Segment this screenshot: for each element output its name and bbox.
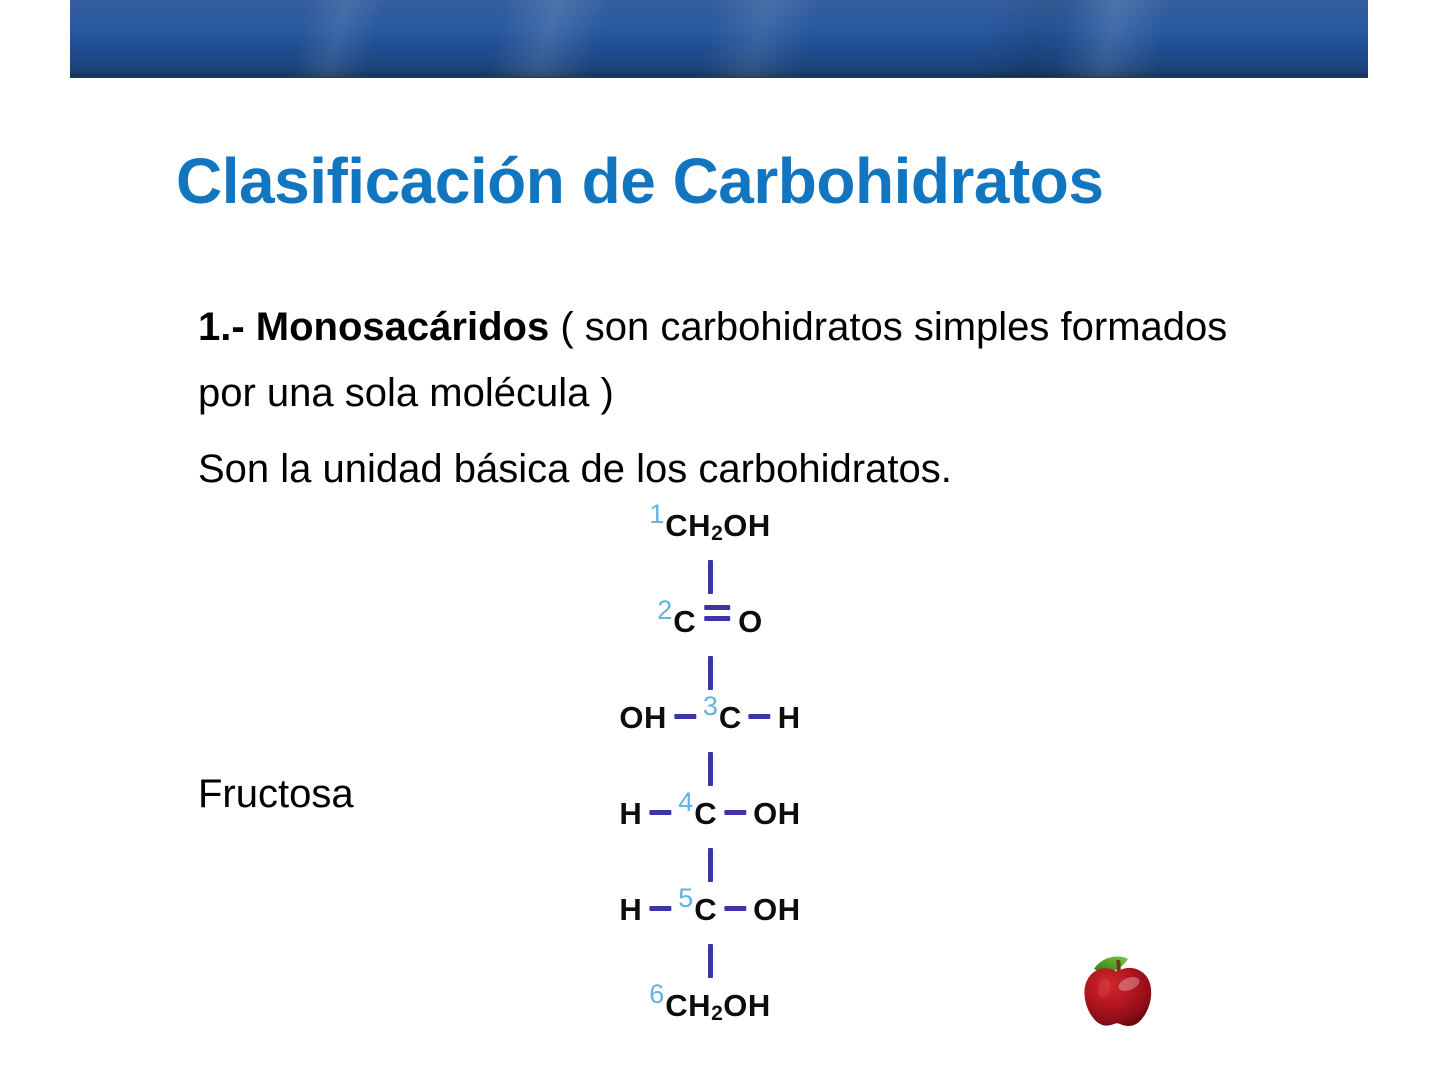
molecule-row-5-center: H 5 C OH xyxy=(619,892,800,928)
bond-left-3 xyxy=(674,714,696,719)
slide-body: 1.- Monosacáridos ( son carbohidratos si… xyxy=(198,294,1288,512)
locant-1: 1 xyxy=(649,499,664,530)
atom-group-ch2oh-top: CH2OH xyxy=(665,508,770,546)
slide-header-banner xyxy=(70,0,1368,77)
substituent-left-4: H xyxy=(619,796,642,832)
apple-body xyxy=(1084,968,1151,1026)
molecule-row-4: H 4 C OH xyxy=(560,796,890,840)
bond-left-5 xyxy=(649,906,671,911)
paragraph-unidad-basica: Son la unidad básica de los carbohidrato… xyxy=(198,436,1266,502)
molecule-row-3: OH 3 C H xyxy=(560,700,890,744)
bond-vertical-2-3 xyxy=(708,656,713,690)
substituent-right-3: H xyxy=(778,700,801,736)
substituent-right-5: OH xyxy=(753,892,801,928)
molecule-row-2-center: 2 C O xyxy=(657,604,763,640)
molecule-caption: Fructosa xyxy=(198,768,354,820)
bond-vertical-5-6 xyxy=(708,944,713,978)
fructose-structure-diagram: 1 CH2OH 2 C O OH 3 C H H 4 C xyxy=(560,508,890,1008)
bond-right-4 xyxy=(724,810,746,815)
banner-sheen-overlay xyxy=(70,0,1368,77)
paragraph-monosacaridos: 1.- Monosacáridos ( son carbohidratos si… xyxy=(198,294,1273,426)
molecule-row-4-center: H 4 C OH xyxy=(619,796,800,832)
bond-vertical-1-2 xyxy=(708,560,713,594)
molecule-row-6: 6 CH2OH xyxy=(560,988,890,1032)
molecule-row-1: 1 CH2OH xyxy=(560,508,890,552)
bond-right-3 xyxy=(749,714,771,719)
atom-carbon-3: C xyxy=(719,700,742,736)
page-title: Clasificación de Carbohidratos xyxy=(176,142,1296,220)
atom-oxygen-2: O xyxy=(738,604,763,640)
locant-6: 6 xyxy=(649,979,664,1010)
molecule-row-6-center: 6 CH2OH xyxy=(649,988,771,1026)
molecule-row-2: 2 C O xyxy=(560,604,890,648)
locant-5: 5 xyxy=(678,883,693,914)
locant-3: 3 xyxy=(703,691,718,722)
bond-vertical-4-5 xyxy=(708,848,713,882)
substituent-left-5: H xyxy=(619,892,642,928)
molecule-row-1-center: 1 CH2OH xyxy=(649,508,771,546)
locant-2: 2 xyxy=(657,595,672,626)
substituent-right-4: OH xyxy=(753,796,801,832)
apple-icon xyxy=(1076,946,1158,1030)
bond-left-4 xyxy=(649,810,671,815)
atom-group-ch2oh-bottom: CH2OH xyxy=(665,988,770,1026)
atom-carbon-4: C xyxy=(694,796,717,832)
atom-carbon-2: C xyxy=(673,604,696,640)
molecule-row-3-center: OH 3 C H xyxy=(619,700,800,736)
locant-4: 4 xyxy=(678,787,693,818)
bond-vertical-3-4 xyxy=(708,752,713,786)
molecule-row-5: H 5 C OH xyxy=(560,892,890,936)
atom-carbon-5: C xyxy=(694,892,717,928)
bond-double-c2-o xyxy=(704,605,730,621)
substituent-left-3: OH xyxy=(619,700,667,736)
paragraph-monosacaridos-bold: 1.- Monosacáridos xyxy=(198,305,549,349)
bond-right-5 xyxy=(724,906,746,911)
